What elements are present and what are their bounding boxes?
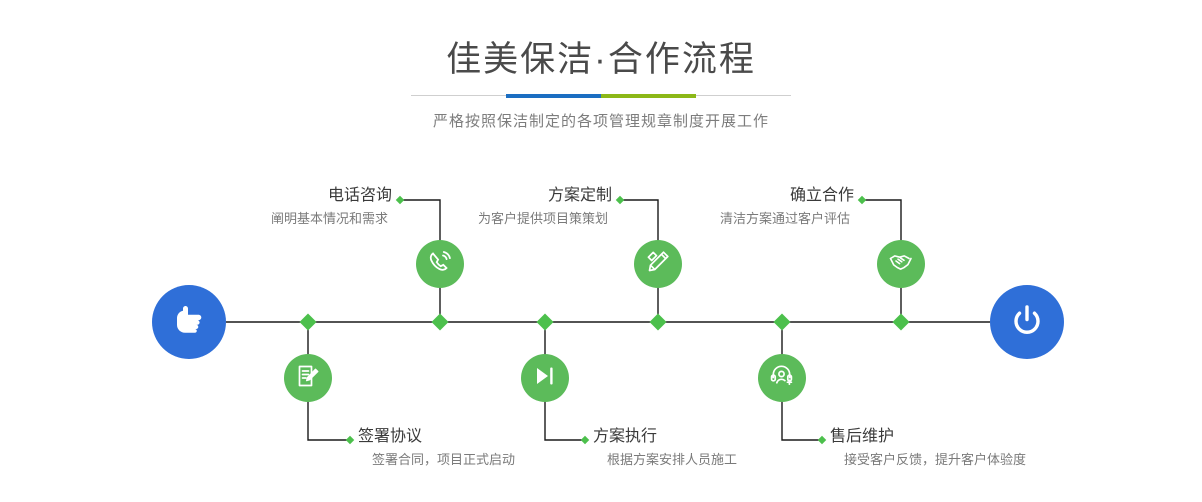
handshake-icon [888,249,914,280]
axis-diamond-5 [774,314,791,331]
axis-diamond-6 [893,314,910,331]
execute-play-icon [532,363,558,394]
step-label-4-title: 方案定制 [340,185,612,207]
step-label-1-title: 签署协议 [358,426,515,448]
step-node-4[interactable] [634,240,682,288]
axis-diamond-1 [300,314,317,331]
document-edit-icon [295,363,321,394]
page-title: 佳美保洁·合作流程 [0,0,1202,82]
step-label-4-desc: 为客户提供项目策策划 [340,209,612,229]
step-label-3-title: 方案执行 [593,426,737,448]
step-label-4: 方案定制 为客户提供项目策策划 [340,185,612,229]
power-button-icon [1007,300,1047,345]
axis-diamond-3 [537,314,554,331]
label-anchor-3 [581,436,589,444]
step-node-6[interactable] [877,240,925,288]
step-node-5[interactable] [758,354,806,402]
phone-call-icon [427,249,453,280]
step-label-6-title: 确立合作 [582,185,854,207]
title-divider [411,94,791,98]
label-anchor-6 [858,196,866,204]
pencil-ruler-icon [645,249,671,280]
step-label-5-title: 售后维护 [830,426,1026,448]
step-node-3[interactable] [521,354,569,402]
page-subtitle: 严格按照保洁制定的各项管理规章制度开展工作 [0,98,1202,131]
step-node-1[interactable] [284,354,332,402]
timeline-start-node[interactable] [152,285,226,359]
step-label-3: 方案执行 根据方案安排人员施工 [593,426,737,470]
divider-segment-green [601,94,696,98]
pointing-hand-icon [169,300,209,345]
step-label-1-desc: 签署合同，项目正式启动 [358,450,515,470]
customer-service-icon [769,363,795,394]
timeline-end-node[interactable] [990,285,1064,359]
page-header: 佳美保洁·合作流程 严格按照保洁制定的各项管理规章制度开展工作 [0,0,1202,131]
step-label-3-desc: 根据方案安排人员施工 [593,450,737,470]
step-label-6: 确立合作 清洁方案通过客户评估 [582,185,854,229]
axis-diamond-4 [650,314,667,331]
step-label-1: 签署协议 签署合同，项目正式启动 [358,426,515,470]
step-label-6-desc: 清洁方案通过客户评估 [582,209,854,229]
label-anchor-1 [346,436,354,444]
step-node-2[interactable] [416,240,464,288]
step-label-5: 售后维护 接受客户反馈，提升客户体验度 [830,426,1026,470]
divider-segment-blue [506,94,601,98]
axis-diamond-2 [432,314,449,331]
label-anchor-5 [818,436,826,444]
step-label-5-desc: 接受客户反馈，提升客户体验度 [830,450,1026,470]
